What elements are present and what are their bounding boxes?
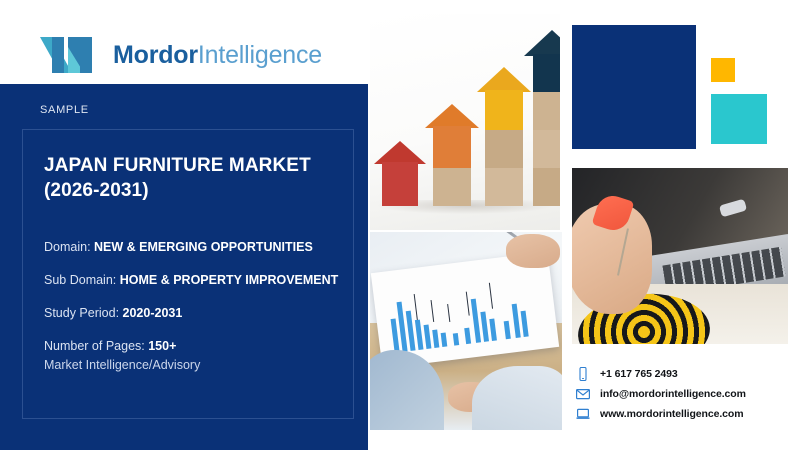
sample-label: SAMPLE — [40, 104, 89, 116]
paper-bar — [480, 312, 489, 342]
paper-candle — [466, 292, 470, 316]
contact-phone-text: +1 617 765 2493 — [600, 368, 678, 380]
meta-row-domain: Domain: NEW & EMERGING OPPORTUNITIES — [44, 240, 344, 255]
paper-bar — [512, 304, 521, 338]
paper-bar — [441, 333, 448, 348]
meta-row-pages: Number of Pages: 150+ — [44, 339, 344, 354]
report-info-panel: SAMPLE JAPAN FURNITURE MARKET (2026-2031… — [0, 84, 368, 450]
email-icon — [576, 387, 590, 401]
meta-label-pages: Number of Pages: — [44, 339, 145, 353]
paper-bar — [521, 311, 529, 337]
house-orange-base — [433, 168, 471, 206]
meta-label-study-period: Study Period: — [44, 306, 119, 320]
advisory-label: Market Intelligence/Advisory — [44, 358, 200, 372]
dart-target-photo — [572, 168, 788, 344]
meta-row-sub-domain: Sub Domain: HOME & PROPERTY IMPROVEMENT — [44, 273, 344, 288]
page-title: JAPAN FURNITURE MARKET (2026-2031) — [44, 153, 344, 203]
paper-bar — [424, 325, 432, 349]
phone-icon — [576, 367, 590, 381]
house-yellow-mid — [485, 130, 523, 168]
house-block-navy — [526, 26, 560, 206]
brand-name-bold: Mordor — [113, 41, 198, 69]
meta-value-domain: NEW & EMERGING OPPORTUNITIES — [94, 240, 313, 254]
paper-bar — [504, 321, 511, 339]
contact-details: +1 617 765 2493 info@mordorintelligence.… — [576, 364, 792, 424]
meta-row-study-period: Study Period: 2020-2031 — [44, 306, 344, 321]
house-yellow-roof — [477, 67, 531, 92]
paper-bar — [471, 299, 481, 343]
contact-website-text: www.mordorintelligence.com — [600, 408, 743, 420]
meta-value-sub-domain: HOME & PROPERTY IMPROVEMENT — [120, 273, 339, 287]
house-navy-body — [533, 54, 560, 92]
wooden-house-blocks-photo — [370, 14, 560, 230]
business-chart-photo — [370, 232, 562, 430]
contact-row-website[interactable]: www.mordorintelligence.com — [576, 404, 792, 424]
house-navy-upper — [533, 92, 560, 130]
brand-wordmark: MordorIntelligence — [113, 43, 322, 68]
house-yellow-body — [485, 90, 523, 130]
house-orange-body — [433, 126, 471, 168]
cyan-color-tile — [711, 94, 767, 144]
report-cover-page: MordorIntelligence SAMPLE JAPAN FURNITUR… — [0, 0, 800, 450]
house-navy-base — [533, 168, 560, 206]
house-orange-roof — [425, 104, 479, 128]
website-icon — [576, 407, 590, 421]
house-block-yellow — [478, 62, 530, 206]
contact-email-text: info@mordorintelligence.com — [600, 388, 746, 400]
paper-candle — [414, 294, 419, 320]
paper-bar — [453, 333, 459, 346]
meta-label-sub-domain: Sub Domain: — [44, 273, 116, 287]
house-yellow-base — [485, 168, 523, 206]
chart-photo-person-right — [472, 366, 562, 430]
house-red-roof — [374, 141, 426, 164]
paper-candle — [489, 283, 494, 309]
meta-label-domain: Domain: — [44, 240, 91, 254]
chart-photo-hand-top — [506, 234, 560, 268]
contact-row-email[interactable]: info@mordorintelligence.com — [576, 384, 792, 404]
meta-value-pages: 150+ — [148, 339, 176, 353]
paper-bar — [415, 320, 424, 350]
paper-bar — [432, 330, 439, 348]
mordor-m-logo-icon — [38, 35, 104, 75]
paper-bar — [489, 318, 497, 340]
brand-name-light: Intelligence — [198, 41, 322, 69]
house-block-red — [376, 138, 424, 206]
brand-header: MordorIntelligence — [38, 28, 322, 82]
house-block-orange — [426, 100, 478, 206]
navy-color-tile — [572, 25, 696, 149]
paper-candle — [431, 300, 435, 322]
contact-row-phone[interactable]: +1 617 765 2493 — [576, 364, 792, 384]
yellow-color-tile — [711, 58, 735, 82]
paper-bar — [464, 328, 471, 344]
meta-value-study-period: 2020-2031 — [123, 306, 183, 320]
report-meta-list: Domain: NEW & EMERGING OPPORTUNITIES Sub… — [44, 240, 344, 372]
paper-candle — [447, 304, 451, 322]
house-red-body — [382, 162, 418, 206]
house-navy-roof — [524, 30, 560, 56]
report-details-box: JAPAN FURNITURE MARKET (2026-2031) Domai… — [22, 129, 354, 419]
house-navy-mid — [533, 130, 560, 168]
paper-bar — [406, 311, 416, 351]
